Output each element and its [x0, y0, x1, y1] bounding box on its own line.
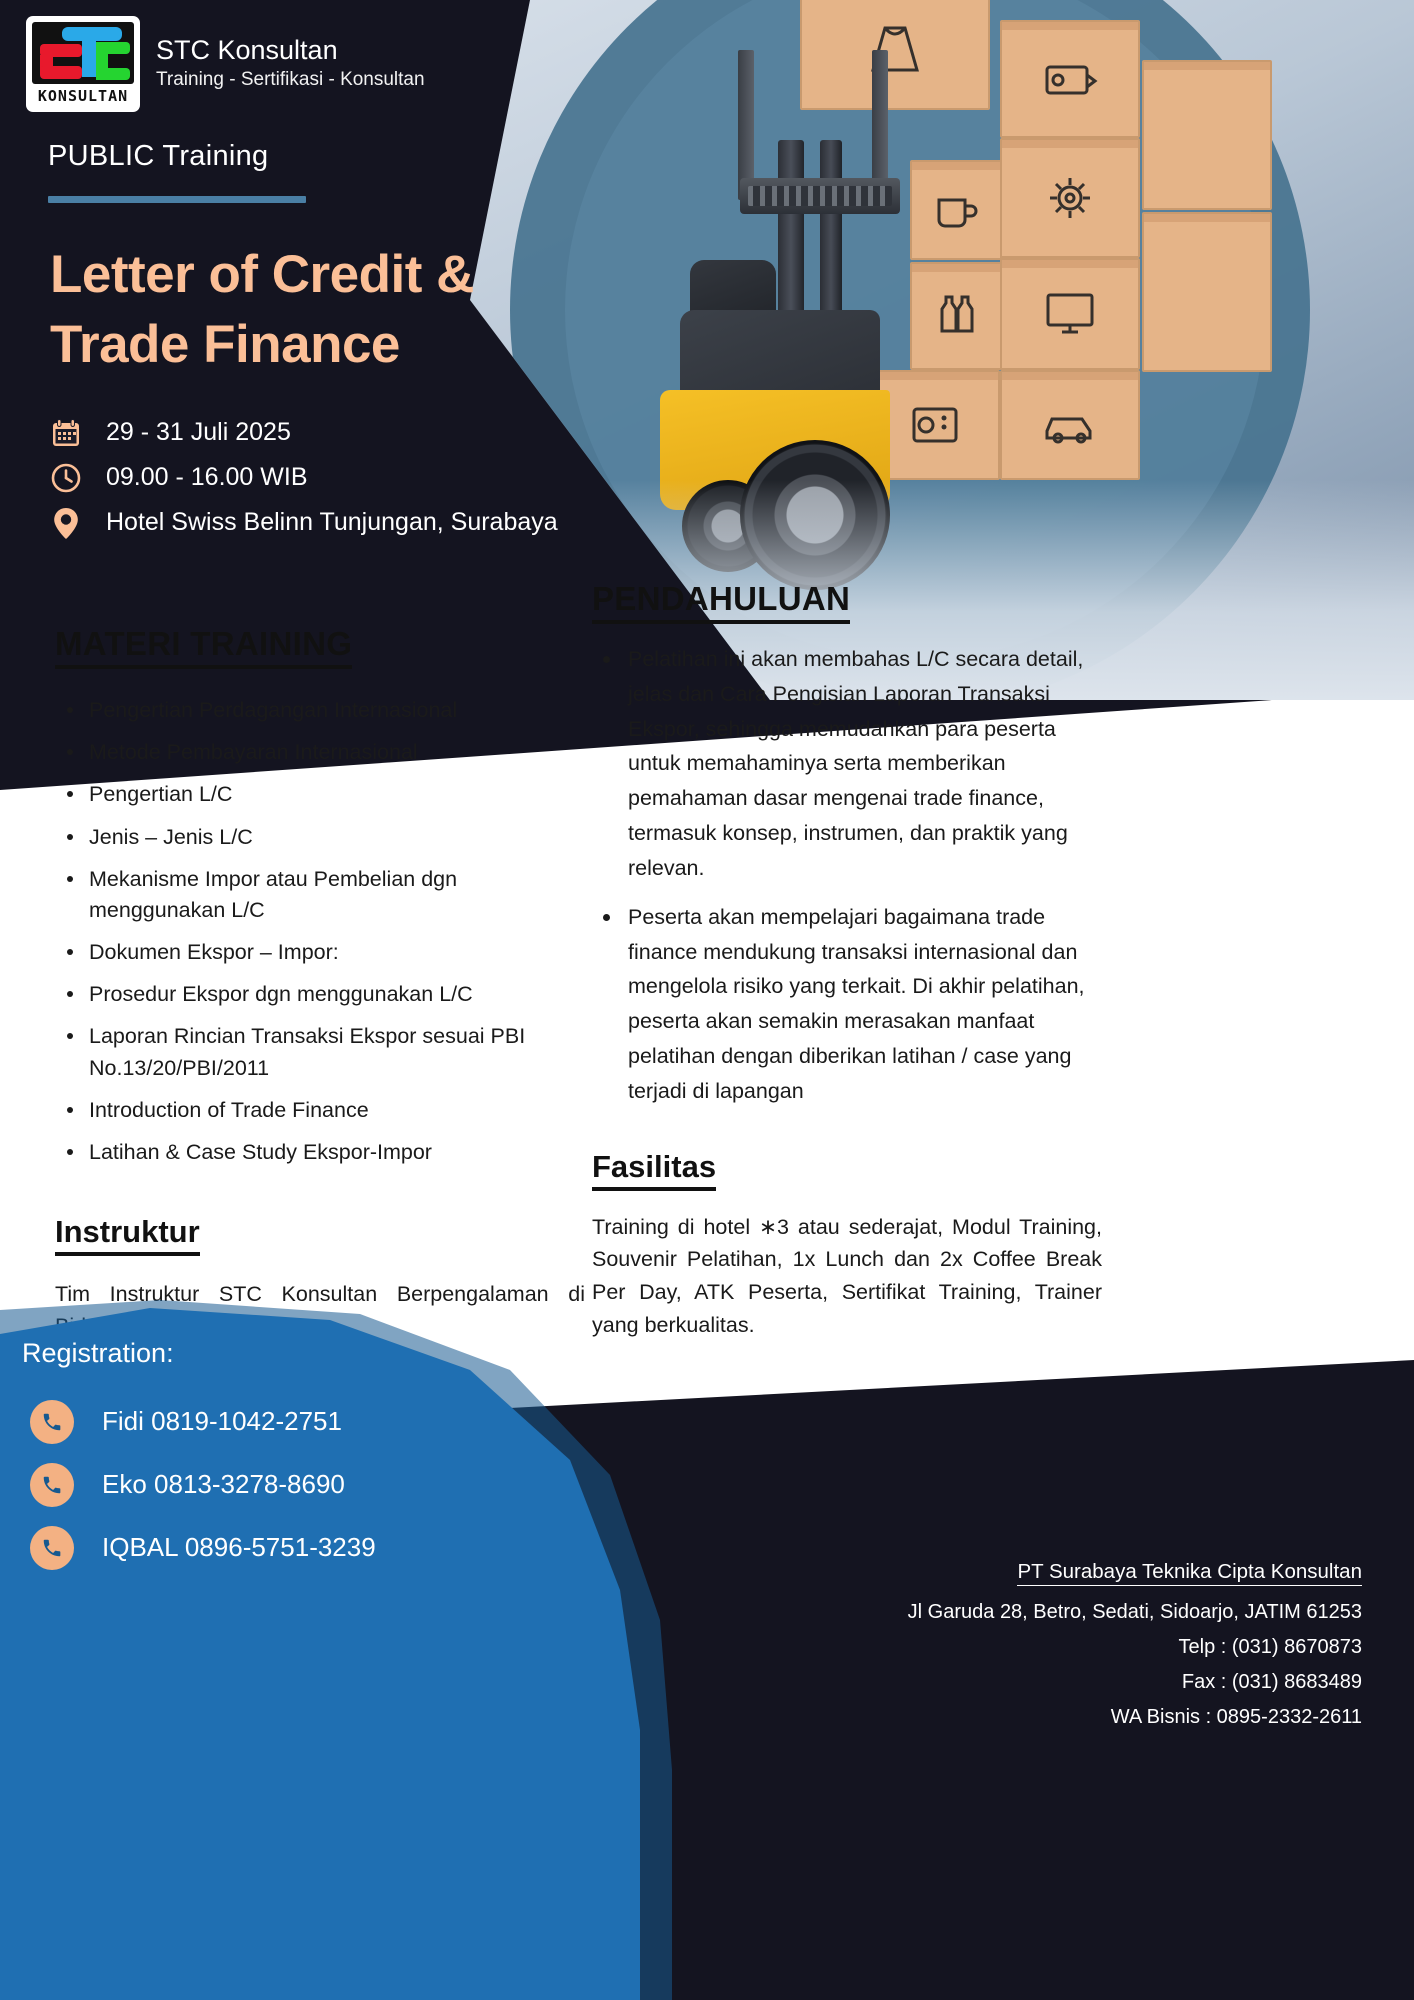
- company-fax: Fax : (031) 8683489: [908, 1665, 1362, 1700]
- event-location: Hotel Swiss Belinn Tunjungan, Surabaya: [106, 508, 558, 537]
- list-item: Pelatihan ini akan membahas L/C secara d…: [592, 642, 1102, 886]
- pendahuluan-heading: PENDAHULUAN: [592, 580, 850, 624]
- list-item: Peserta akan mempelajari bagaimana trade…: [592, 900, 1102, 1109]
- list-item: Pengertian Perdagangan Internasional: [55, 695, 585, 726]
- right-column: PENDAHULUAN Pelatihan ini akan membahas …: [592, 580, 1102, 1341]
- brand-name: STC Konsultan: [156, 35, 425, 66]
- logo-wordmark: KONSULTAN: [32, 87, 134, 105]
- company-info: PT Surabaya Teknika Cipta Konsultan Jl G…: [908, 1560, 1362, 1735]
- logo-mark: [32, 22, 134, 84]
- contact-row[interactable]: Eko 0813-3278-8690: [30, 1453, 376, 1516]
- car-icon: [1041, 403, 1099, 447]
- company-address: Jl Garuda 28, Betro, Sedati, Sidoarjo, J…: [908, 1595, 1362, 1630]
- pendahuluan-list: Pelatihan ini akan membahas L/C secara d…: [592, 642, 1102, 1109]
- contact-name: Eko 0813-3278-8690: [102, 1469, 345, 1500]
- page-title: Letter of Credit & Trade Finance: [50, 240, 570, 380]
- company-whatsapp: WA Bisnis : 0895-2332-2611: [908, 1700, 1362, 1735]
- cardboard-box: [1142, 60, 1272, 210]
- contact-name: IQBAL 0896-5751-3239: [102, 1532, 376, 1563]
- stc-logo: KONSULTAN: [26, 16, 140, 112]
- brand-header: KONSULTAN STC Konsultan Training - Serti…: [26, 16, 425, 112]
- contact-list: Fidi 0819-1042-2751 Eko 0813-3278-8690 I…: [30, 1390, 376, 1579]
- event-date: 29 - 31 Juli 2025: [106, 418, 291, 447]
- list-item: Jenis – Jenis L/C: [55, 822, 585, 853]
- list-item: Pengertian L/C: [55, 779, 585, 810]
- list-item: Latihan & Case Study Ekspor-Impor: [55, 1137, 585, 1168]
- fasilitas-body: Training di hotel ∗3 atau sederajat, Mod…: [592, 1211, 1102, 1342]
- event-time: 09.00 - 16.00 WIB: [106, 463, 308, 492]
- list-item: Introduction of Trade Finance: [55, 1095, 585, 1126]
- forklift-grid: [748, 186, 892, 206]
- event-location-row: Hotel Swiss Belinn Tunjungan, Surabaya: [48, 500, 558, 545]
- logo-s-shape: [40, 66, 82, 79]
- event-date-row: 29 - 31 Juli 2025: [48, 410, 558, 455]
- cardboard-box: [1142, 212, 1272, 372]
- box-symbol-icon: [1041, 53, 1099, 105]
- materi-list: Pengertian Perdagangan Internasional Met…: [55, 695, 585, 1168]
- list-item: Dokumen Ekspor – Impor:: [55, 937, 585, 968]
- brand-text: STC Konsultan Training - Sertifikasi - K…: [156, 35, 425, 93]
- calendar-icon: [48, 417, 84, 449]
- event-details: 29 - 31 Juli 2025 09.00 - 16.00 WIB Hote…: [48, 410, 558, 545]
- list-item: Prosedur Ekspor dgn menggunakan L/C: [55, 979, 585, 1010]
- gear-icon: [1042, 170, 1098, 226]
- location-pin-icon: [48, 506, 84, 540]
- box-flap: [1144, 214, 1270, 222]
- brand-tagline: Training - Sertifikasi - Konsultan: [156, 68, 425, 93]
- left-column: MATERI TRAINING Pengertian Perdagangan I…: [55, 625, 585, 1343]
- contact-row[interactable]: Fidi 0819-1042-2751: [30, 1390, 376, 1453]
- list-item: Mekanisme Impor atau Pembelian dgn mengg…: [55, 864, 585, 926]
- registration-label: Registration:: [22, 1338, 174, 1369]
- clock-icon: [48, 462, 84, 494]
- list-item: Metode Pembayaran Internasional: [55, 737, 585, 768]
- instruktur-heading: Instruktur: [55, 1214, 200, 1256]
- list-item: Laporan Rincian Transaksi Ekspor sesuai …: [55, 1021, 585, 1083]
- company-telp: Telp : (031) 8670873: [908, 1630, 1362, 1665]
- materi-heading: MATERI TRAINING: [55, 625, 352, 669]
- accent-rule: [48, 196, 306, 203]
- monitor-icon: [1042, 289, 1098, 339]
- event-time-row: 09.00 - 16.00 WIB: [48, 455, 558, 500]
- phone-icon: [30, 1400, 74, 1444]
- phone-icon: [30, 1526, 74, 1570]
- logo-c-shape: [96, 68, 130, 80]
- phone-icon: [30, 1463, 74, 1507]
- contact-row[interactable]: IQBAL 0896-5751-3239: [30, 1516, 376, 1579]
- eyebrow-label: PUBLIC Training: [48, 140, 269, 173]
- company-name: PT Surabaya Teknika Cipta Konsultan: [1017, 1560, 1362, 1586]
- contact-name: Fidi 0819-1042-2751: [102, 1406, 342, 1437]
- box-flap: [1144, 62, 1270, 70]
- fasilitas-heading: Fasilitas: [592, 1149, 716, 1191]
- logo-t-shape: [82, 27, 96, 77]
